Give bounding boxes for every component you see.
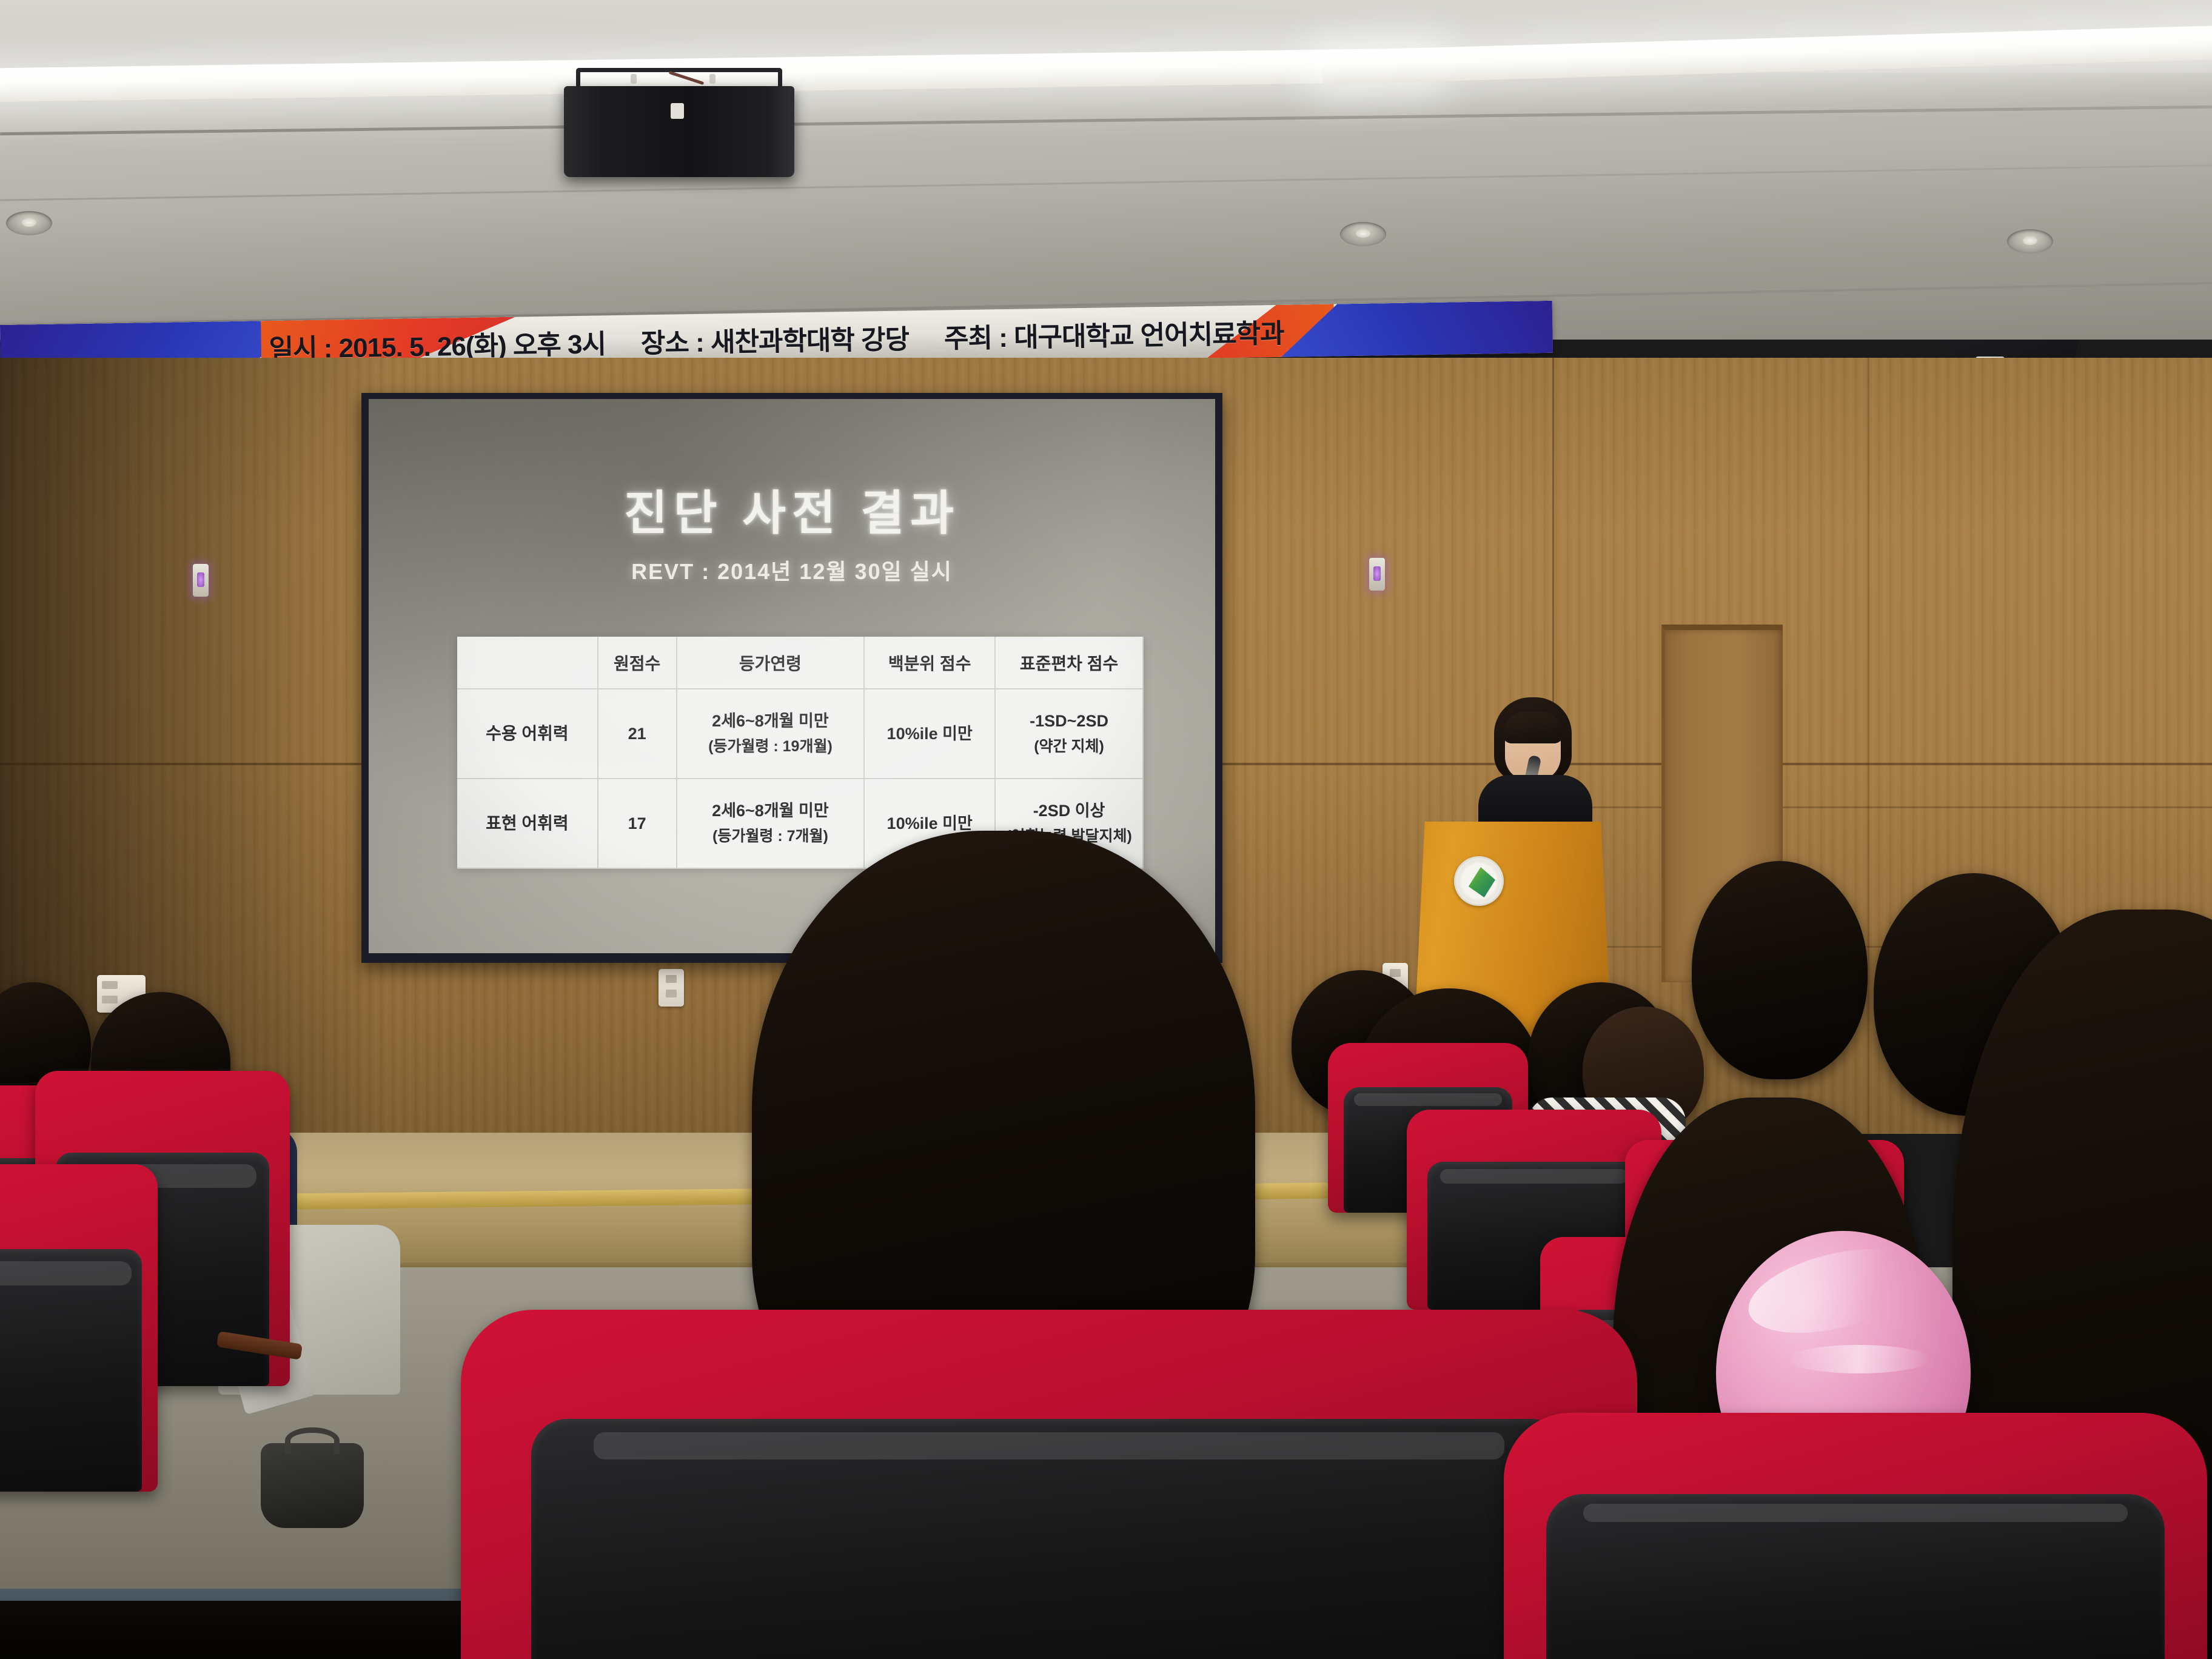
presenter-fringe	[1503, 712, 1563, 743]
ceiling	[0, 0, 2212, 340]
wall-seam	[1868, 358, 1869, 1134]
banner-venue: 장소 : 새찬과학대학 강당	[640, 317, 909, 360]
age-equiv-main: 2세6~8개월 미만	[712, 712, 829, 730]
recessed-downlight	[1340, 222, 1386, 246]
attendee-head	[1692, 861, 1868, 1079]
slide-title: 진단 사전 결과	[369, 475, 1215, 543]
wall-indicator-lamp	[193, 564, 209, 597]
handbag	[261, 1443, 364, 1528]
row-age-equivalent: 2세6~8개월 미만 (등가월령 : 19개월)	[677, 689, 865, 779]
row-label: 수용 어휘력	[457, 689, 598, 779]
row-label: 표현 어휘력	[457, 779, 598, 868]
university-emblem-icon	[1454, 856, 1504, 906]
auditorium-photo: 일시 : 2015. 5. 26(화) 오후 3시 장소 : 새찬과학대학 강당…	[0, 0, 2212, 1659]
sd-sub: (약간 지체)	[998, 736, 1140, 758]
wall-indicator-lamp	[1369, 558, 1385, 591]
row-raw-score: 17	[598, 779, 677, 868]
table-header-percentile: 백분위 점수	[864, 637, 995, 689]
row-age-equivalent: 2세6~8개월 미만 (등가월령 : 7개월)	[677, 779, 865, 868]
row-sd-score: -1SD~2SD (약간 지체)	[995, 689, 1143, 779]
auditorium-seat	[0, 1164, 158, 1492]
ceiling-seam	[0, 164, 2212, 201]
slide-subtitle: REVT : 2014년 12월 30일 실시	[369, 554, 1215, 586]
recessed-downlight	[2007, 229, 2053, 253]
ceiling-speaker	[564, 68, 794, 183]
age-equiv-main: 2세6~8개월 미만	[712, 802, 829, 820]
sd-main: -1SD~2SD	[1030, 712, 1108, 730]
table-row: 수용 어휘력 21 2세6~8개월 미만 (등가월령 : 19개월) 10%il…	[457, 689, 1143, 779]
wall-seam	[1552, 806, 2212, 808]
presenter	[1467, 697, 1601, 831]
speaker-brand-logo	[671, 103, 684, 119]
ceiling-seam	[0, 106, 2212, 136]
table-header-row: 원점수 등가연령 백분위 점수 표준편차 점수	[457, 637, 1143, 689]
foreground-shadow	[0, 1601, 461, 1659]
row-percentile: 10%ile 미만	[864, 689, 995, 779]
table-header-raw-score: 원점수	[598, 637, 677, 689]
auditorium-seat	[1504, 1413, 2207, 1659]
recessed-downlight	[6, 211, 52, 235]
sd-main: -2SD 이상	[1033, 802, 1105, 820]
age-equiv-sub: (등가월령 : 7개월)	[680, 826, 862, 848]
table-header-age-equiv: 등가연령	[677, 637, 865, 689]
foreground-auditorium-seat	[461, 1310, 1637, 1659]
wall-outlet	[659, 969, 684, 1007]
age-equiv-sub: (등가월령 : 19개월)	[680, 736, 862, 758]
table-header-blank	[457, 637, 598, 689]
banner-host: 주최 : 대구대학교 언어치료학과	[943, 312, 1284, 356]
table-header-sd-score: 표준편차 점수	[995, 637, 1143, 689]
row-raw-score: 21	[598, 689, 677, 779]
